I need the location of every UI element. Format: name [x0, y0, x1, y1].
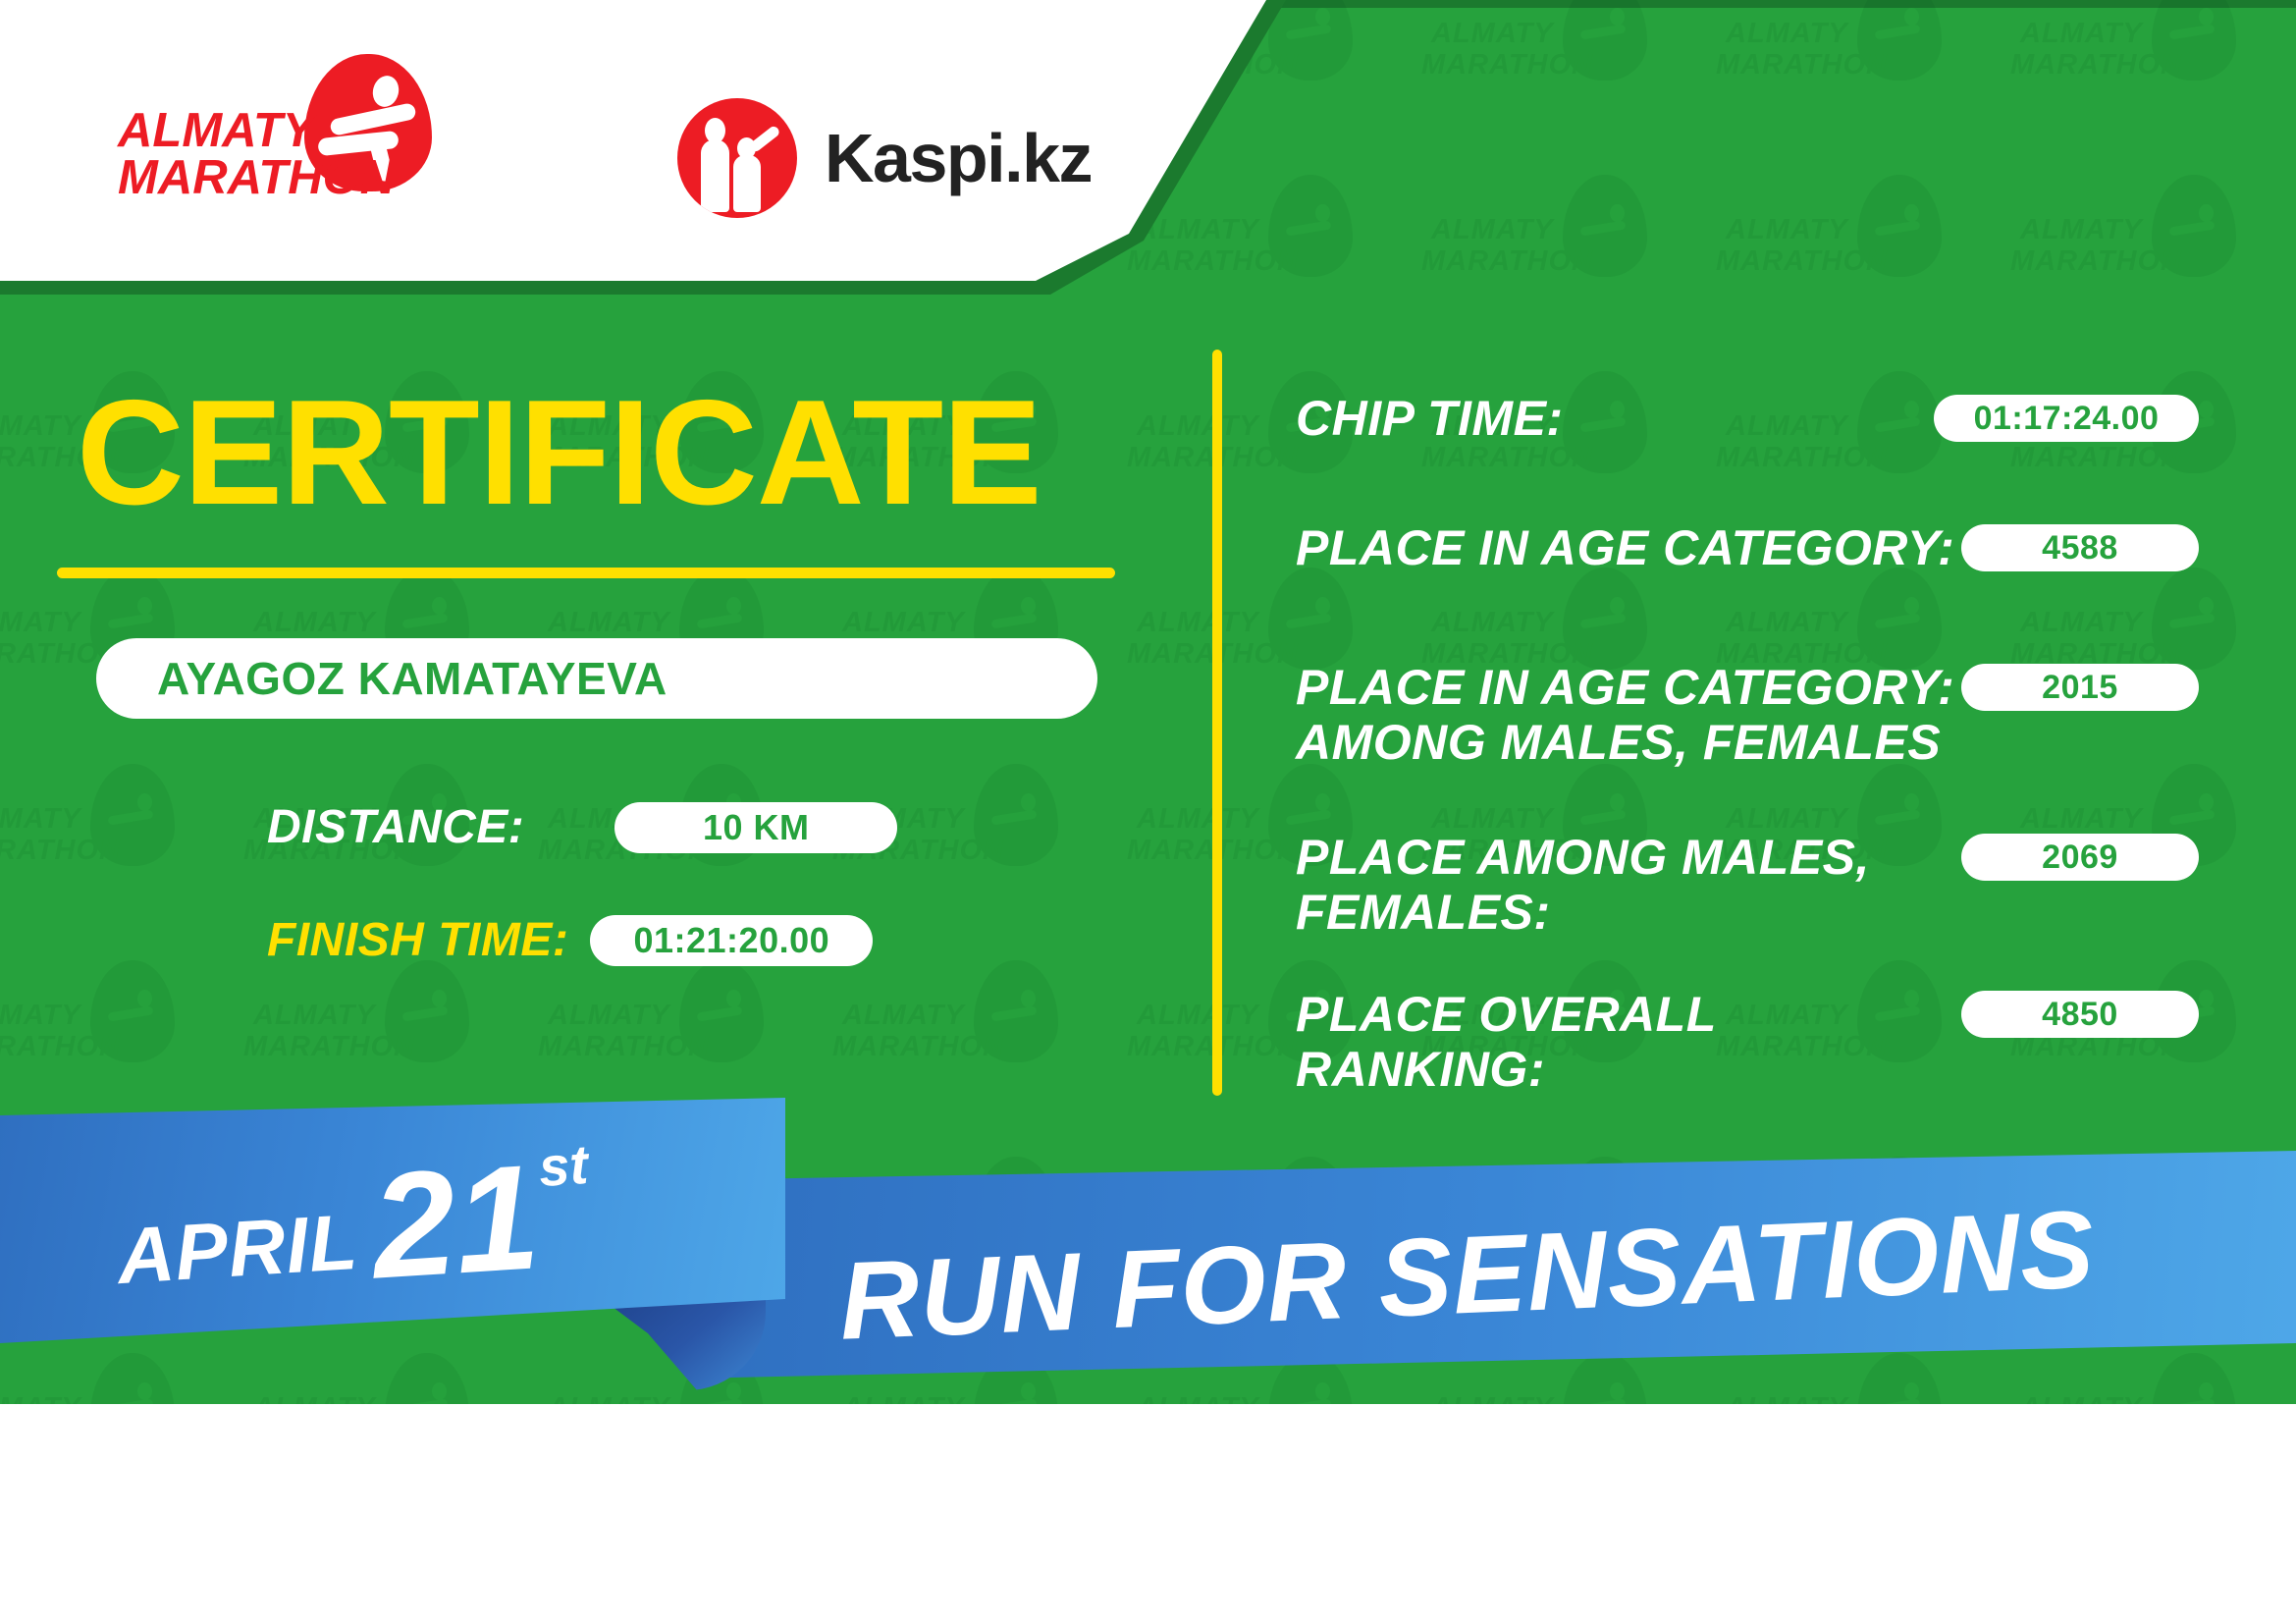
distance-row: DISTANCE: 10 KM	[267, 800, 897, 854]
stat-row: PLACE IN AGE CATEGORY:AMONG MALES, FEMAL…	[1296, 660, 2199, 770]
almaty-logo-line2: MARATHON	[118, 154, 395, 202]
distance-label: DISTANCE:	[267, 800, 524, 854]
kaspi-logo-text: Kaspi.kz	[825, 119, 1092, 197]
event-day: 21	[368, 1154, 542, 1292]
stat-value: 2069	[1961, 834, 2199, 881]
header: ALMATY MARATHON Kaspi.kz	[0, 0, 1364, 295]
stat-label: CHIP TIME:	[1296, 391, 1564, 446]
stat-value: 4588	[1961, 524, 2199, 571]
stat-label: PLACE AMONG MALES,FEMALES:	[1296, 830, 1870, 940]
sponsor-bar: Sulpak SANOFI Empowering Life ORIFLAME S…	[0, 1404, 2296, 1624]
stat-label: PLACE IN AGE CATEGORY:	[1296, 520, 1954, 575]
distance-value: 10 KM	[614, 802, 897, 853]
event-day-suffix: st	[537, 1132, 590, 1199]
stat-row: PLACE AMONG MALES,FEMALES: 2069	[1296, 830, 2199, 940]
participant-name: AYAGOZ KAMATAYEVA	[157, 652, 667, 705]
stat-row: PLACE OVERALL RANKING: 4850	[1296, 987, 2199, 1097]
event-date: APRIL 21 st	[112, 1132, 595, 1308]
finish-time-value: 01:21:20.00	[590, 915, 873, 966]
finish-time-label: FINISH TIME:	[267, 913, 568, 967]
almaty-logo-line1: ALMATY	[118, 107, 315, 155]
stat-label: PLACE OVERALL RANKING:	[1296, 987, 1961, 1097]
event-ribbon: APRIL 21 st RUN FOR SENSATIONS	[0, 1090, 2296, 1414]
stat-label: PLACE IN AGE CATEGORY:AMONG MALES, FEMAL…	[1296, 660, 1954, 770]
title-underline	[57, 568, 1115, 578]
event-month: APRIL	[115, 1197, 360, 1302]
participant-name-field: AYAGOZ KAMATAYEVA	[96, 638, 1097, 719]
kaspi-people-circle-icon	[677, 98, 797, 218]
page-title: CERTIFICATE	[77, 378, 1041, 527]
stat-row: PLACE IN AGE CATEGORY: 4588	[1296, 520, 2199, 575]
column-divider	[1212, 350, 1222, 1096]
certificate-page: ALMATYMARATHONALMATYMARATHONALMATYMARATH…	[0, 0, 2296, 1624]
finish-time-row: FINISH TIME: 01:21:20.00	[267, 913, 873, 967]
almaty-marathon-logo[interactable]: ALMATY MARATHON	[118, 54, 432, 196]
stat-value: 2015	[1961, 664, 2199, 711]
stat-value: 01:17:24.00	[1934, 395, 2199, 442]
stat-row: CHIP TIME: 01:17:24.00	[1296, 391, 2199, 446]
stat-value: 4850	[1961, 991, 2199, 1038]
kaspi-logo[interactable]: Kaspi.kz	[677, 94, 1092, 222]
